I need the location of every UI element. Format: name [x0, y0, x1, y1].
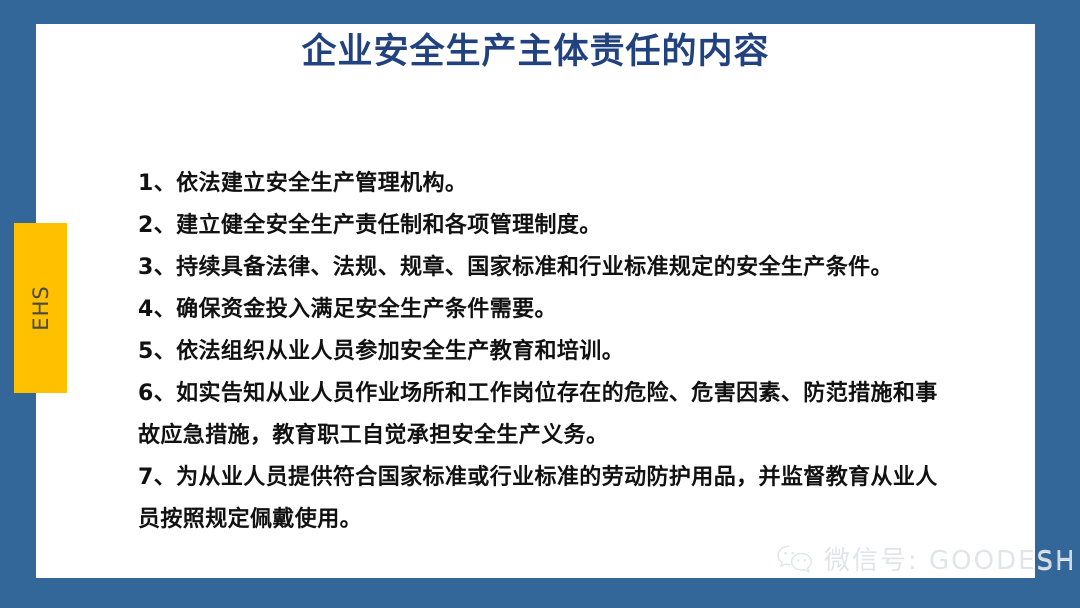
side-tab-ehs: EHS [14, 223, 67, 393]
slide-root: EHS 企业安全生产主体责任的内容 1、依法建立安全生产管理机构。 2、建立健全… [0, 0, 1080, 608]
list-item: 6、如实告知从业人员作业场所和工作岗位存在的危险、危害因素、防范措施和事故应急措… [138, 373, 958, 457]
list-item: 4、确保资金投入满足安全生产条件需要。 [138, 289, 958, 331]
watermark-text: 微信号: GOODESH [824, 540, 1077, 577]
watermark: 微信号: GOODESH [775, 540, 1077, 577]
page-title: 企业安全生产主体责任的内容 [36, 28, 1035, 76]
side-tab-label: EHS [29, 285, 53, 330]
list-item: 1、依法建立安全生产管理机构。 [138, 163, 958, 205]
content-list: 1、依法建立安全生产管理机构。 2、建立健全安全生产责任制和各项管理制度。 3、… [138, 163, 958, 541]
wechat-icon [775, 543, 815, 575]
list-item: 2、建立健全安全生产责任制和各项管理制度。 [138, 205, 958, 247]
list-item: 7、为从业人员提供符合国家标准或行业标准的劳动防护用品，并监督教育从业人员按照规… [138, 457, 958, 541]
list-item: 3、持续具备法律、法规、规章、国家标准和行业标准规定的安全生产条件。 [138, 247, 958, 289]
list-item: 5、依法组织从业人员参加安全生产教育和培训。 [138, 331, 958, 373]
